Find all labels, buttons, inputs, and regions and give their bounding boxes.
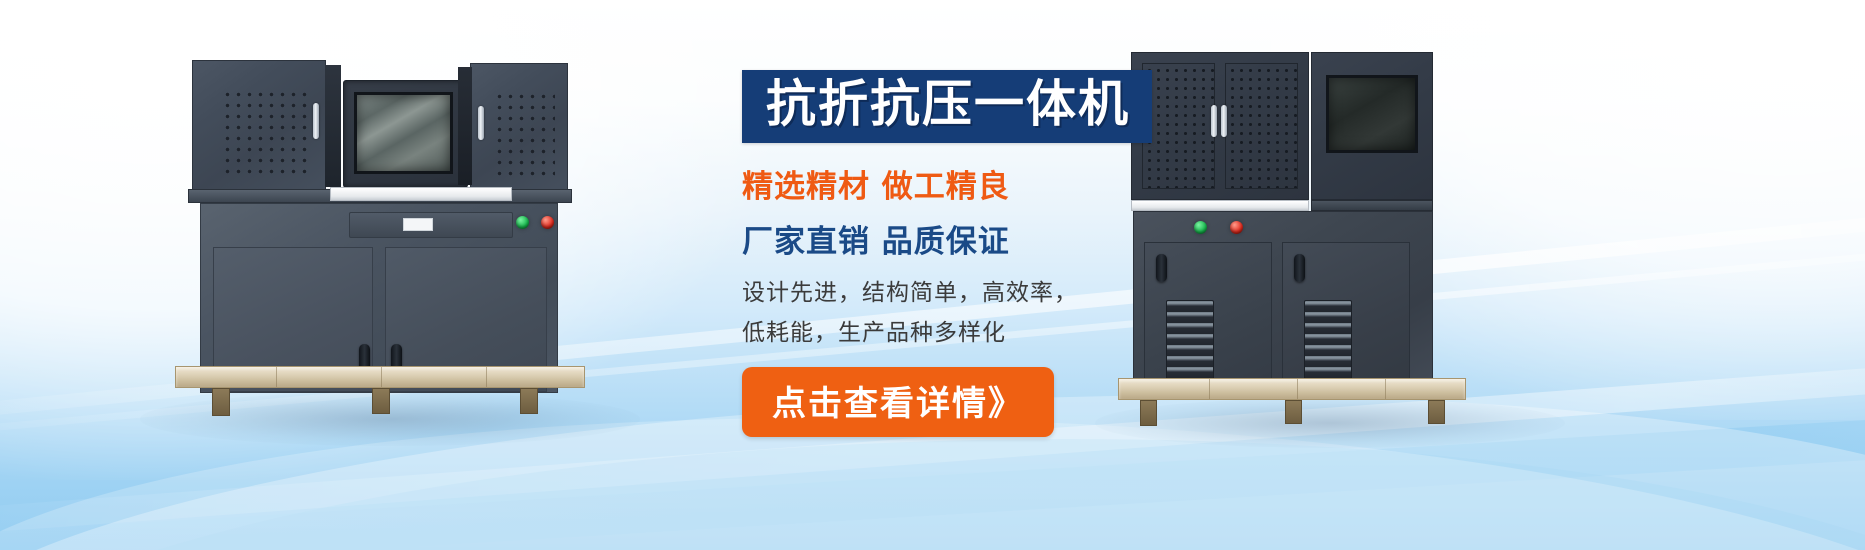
description-line-2: 低耗能，生产品种多样化: [742, 313, 1272, 347]
machine-left-control-strip: [330, 187, 512, 201]
description-line-1: 设计先进，结构简单，高效率，: [742, 273, 1272, 307]
tagline-blue: 厂家直销 品质保证: [742, 216, 1272, 261]
view-details-button-label: 点击查看详情》: [772, 376, 1024, 425]
machine-left-perforation-panel-a: [219, 86, 307, 176]
machine-left-wood-pallet: [175, 366, 585, 388]
pallet-seam: [276, 367, 277, 387]
promo-copy-block: 抗折抗压一体机 精选精材 做工精良 厂家直销 品质保证 设计先进，结构简单，高效…: [742, 70, 1272, 437]
machine-left: [170, 47, 570, 392]
machine-left-green-indicator-lamp: [516, 216, 529, 229]
machine-left-pallet-leg-mid: [372, 388, 390, 414]
machine-left-main-body: [200, 203, 558, 393]
machine-left-red-indicator-lamp: [541, 216, 554, 229]
machine-left-cabinet-handle-a: [313, 103, 319, 139]
machine-left-monitor-screen: [354, 92, 453, 174]
headline-text: 抗折抗压一体机: [766, 78, 1130, 131]
machine-right-monitor-tower: [1311, 52, 1433, 200]
machine-left-upper-left-cabinet: [192, 60, 326, 191]
machine-right-door-handle-right: [1294, 254, 1305, 282]
machine-left-drawer-label: [403, 218, 433, 231]
machine-right-tower-ledge: [1311, 200, 1433, 211]
pallet-seam: [1385, 379, 1386, 399]
machine-right-pallet-leg-mid: [1285, 400, 1302, 424]
product-promo-banner: 抗折抗压一体机 精选精材 做工精良 厂家直销 品质保证 设计先进，结构简单，高效…: [0, 0, 1865, 550]
machine-right-pallet-leg-right: [1428, 400, 1445, 424]
pallet-seam: [486, 367, 487, 387]
machine-left-pallet-leg-right: [520, 388, 538, 414]
machine-left-perforation-panel-b: [491, 88, 555, 176]
machine-left-monitor-housing: [343, 80, 468, 188]
machine-left-upper-left-cabinet-side: [325, 65, 341, 187]
machine-left-pallet-leg-left: [212, 388, 230, 416]
headline-banner: 抗折抗压一体机: [742, 70, 1152, 143]
machine-right-monitor-screen: [1326, 75, 1418, 153]
machine-right-vent-louver-right: [1304, 300, 1352, 386]
pallet-seam: [381, 367, 382, 387]
machine-left-upper-right-cabinet-side: [458, 67, 472, 185]
machine-left-upper-right-cabinet: [470, 63, 568, 191]
view-details-button[interactable]: 点击查看详情》: [742, 367, 1054, 437]
machine-left-cabinet-handle-b: [478, 106, 484, 140]
pallet-seam: [1297, 379, 1298, 399]
tagline-orange: 精选精材 做工精良: [742, 161, 1272, 206]
